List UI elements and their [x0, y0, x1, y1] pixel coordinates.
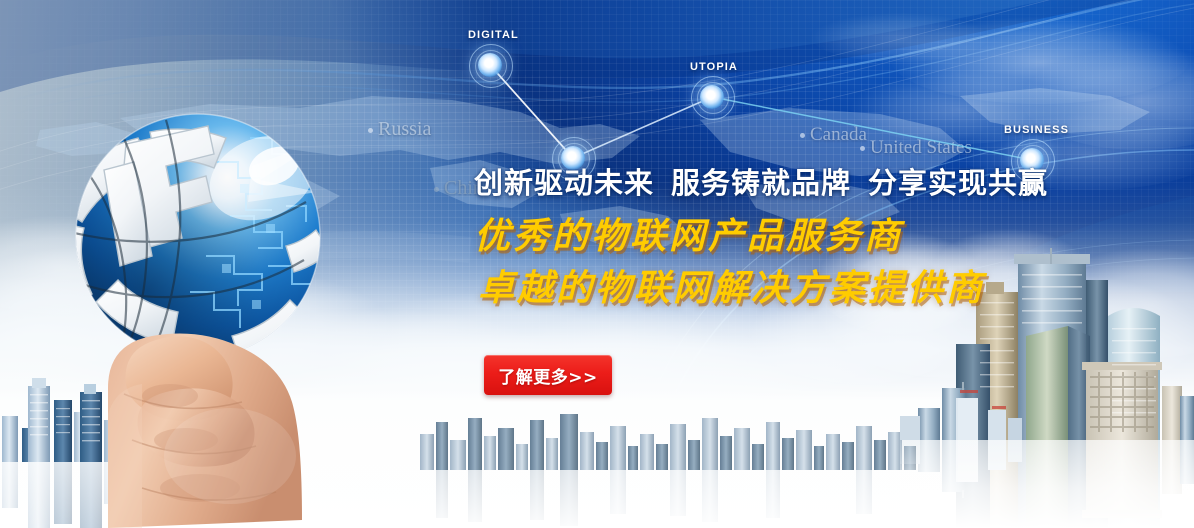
node-core-glow [478, 53, 502, 77]
network-node-utopia[interactable] [689, 74, 735, 120]
hand-holding-globe [0, 96, 470, 528]
headline-part-3: 分享实现共赢 [868, 166, 1048, 200]
subheadline-line-2: 卓越的物联网解决方案提供商 [478, 265, 1074, 311]
headline: 创新驱动未来服务铸就品牌分享实现共赢 [474, 168, 1074, 200]
headline-part-1: 创新驱动未来 [474, 166, 654, 200]
headline-part-2: 服务铸就品牌 [671, 166, 851, 200]
subheadline-line-1: 优秀的物联网产品服务商 [474, 213, 1074, 259]
city-skyline-center [420, 400, 920, 528]
network-node-label-digital: DIGITAL [468, 29, 519, 41]
hand [108, 334, 302, 528]
learn-more-button[interactable]: 了解更多>> [484, 355, 612, 395]
node-core-glow [700, 85, 724, 109]
hero-banner: Russia Eu Chin Canada United States Aust… [0, 0, 1194, 528]
network-node-label-business: BUSINESS [1004, 124, 1069, 136]
copy-block: 创新驱动未来服务铸就品牌分享实现共赢 优秀的物联网产品服务商 卓越的物联网解决方… [474, 168, 1074, 311]
network-node-label-utopia: UTOPIA [690, 61, 738, 73]
network-node-digital[interactable] [467, 42, 513, 88]
